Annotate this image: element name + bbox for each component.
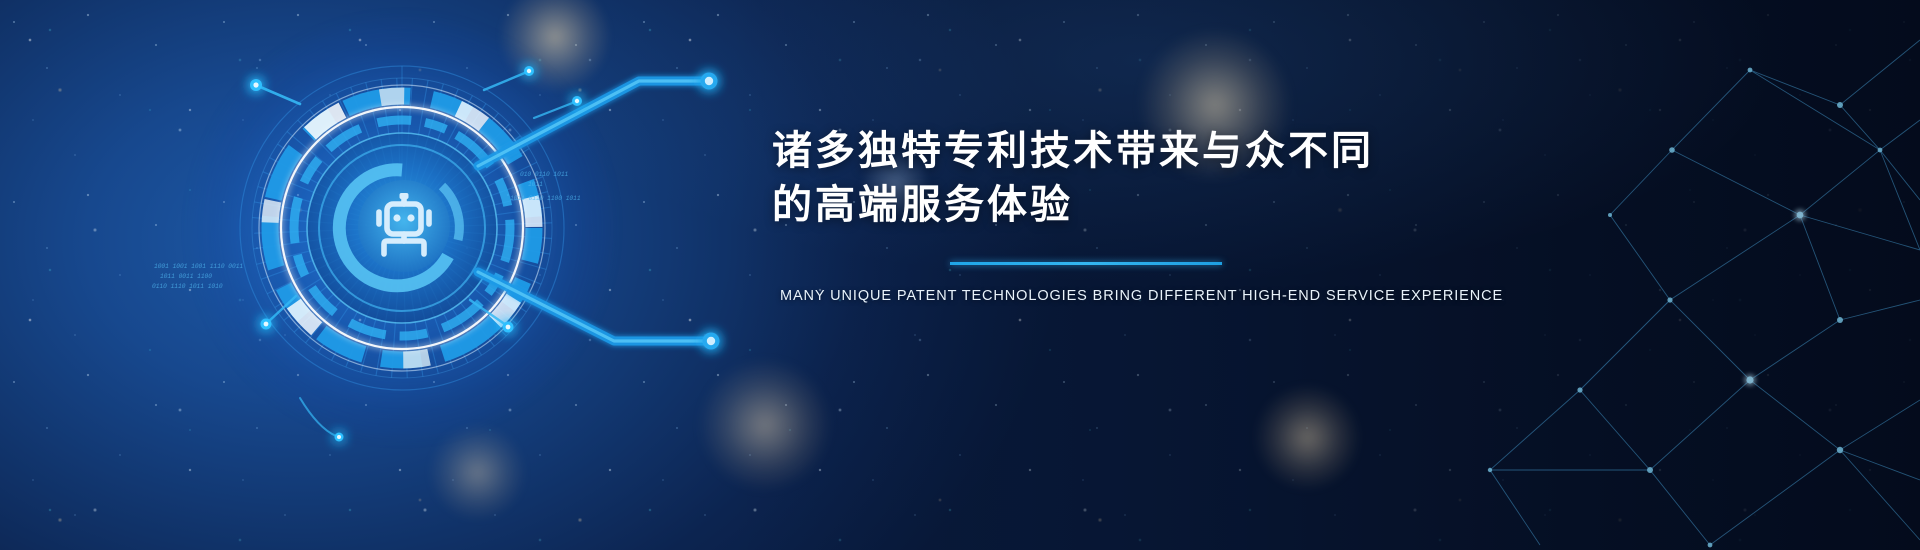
spark-node-lower-right [470,300,514,333]
hud-spark-nodes [250,66,582,442]
spark-node-upper-right [484,66,534,90]
text-block: 诸多独特专利技术带来与众不同 的高端服务体验 MANY UNIQUE PATEN… [772,124,1532,304]
subtitle-text: MANY UNIQUE PATENT TECHNOLOGIES BRING DI… [780,288,1532,304]
hero-banner: 1001 1001 1001 1110 0011 1011 0011 1100 … [0,0,1920,550]
spark-node-lower-left [261,296,297,330]
headline-text: 诸多独特专利技术带来与众不同 的高端服务体验 [772,124,1532,232]
connector-bottom [478,272,720,350]
headline-divider [950,262,1222,265]
spark-node-upper-left [250,79,300,104]
connector-top [478,73,718,167]
spark-node-bottom [300,398,344,442]
